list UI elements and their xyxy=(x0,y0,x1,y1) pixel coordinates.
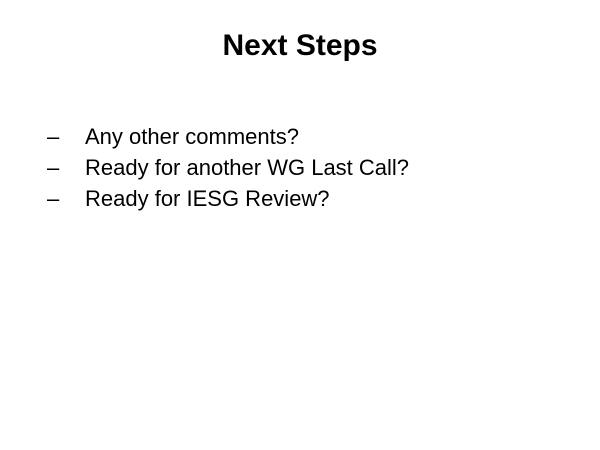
list-item-label: Ready for IESG Review? xyxy=(85,183,330,214)
list-item-label: Ready for another WG Last Call? xyxy=(85,152,409,183)
list-item: – Ready for IESG Review? xyxy=(47,183,567,214)
list-item: – Ready for another WG Last Call? xyxy=(47,152,567,183)
bullet-dash-icon: – xyxy=(47,183,85,214)
list-item: – Any other comments? xyxy=(47,121,567,152)
slide-title: Next Steps xyxy=(0,28,600,64)
list-item-label: Any other comments? xyxy=(85,121,299,152)
bullet-list: – Any other comments? – Ready for anothe… xyxy=(47,121,567,214)
presentation-slide: Next Steps – Any other comments? – Ready… xyxy=(0,0,600,450)
bullet-dash-icon: – xyxy=(47,121,85,152)
bullet-dash-icon: – xyxy=(47,152,85,183)
